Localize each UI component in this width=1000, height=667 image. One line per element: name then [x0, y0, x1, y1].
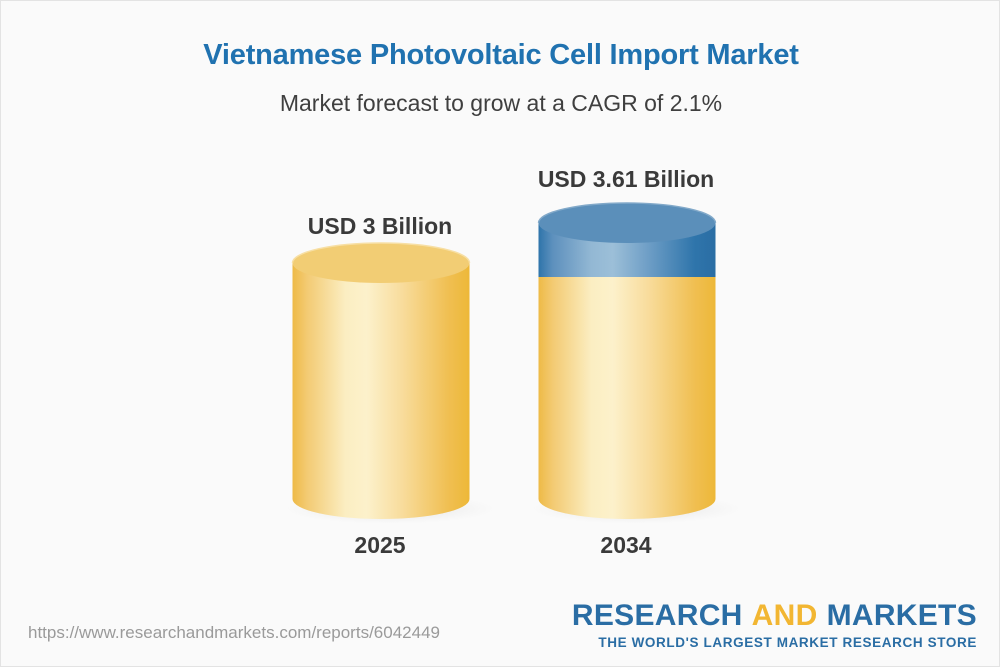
cylinder-base-segment-2034 [539, 277, 716, 519]
bar-category-label-2034: 2034 [496, 532, 756, 559]
source-url[interactable]: https://www.researchandmarkets.com/repor… [28, 623, 440, 643]
brand-tagline: THE WORLD'S LARGEST MARKET RESEARCH STOR… [572, 636, 977, 650]
brand-wordmark: RESEARCHANDMARKETS [572, 601, 977, 631]
brand-word-research: RESEARCH [572, 599, 743, 632]
cylinder-2034 [496, 151, 756, 531]
page-title: Vietnamese Photovoltaic Cell Import Mark… [1, 39, 1000, 72]
brand-word-markets: MARKETS [827, 599, 977, 632]
cylinder-2025 [250, 151, 510, 531]
cylinder-body-2025 [293, 263, 470, 519]
brand-word-and: AND [752, 599, 818, 632]
bar-category-label-2025: 2025 [250, 532, 510, 559]
infographic-canvas: Vietnamese Photovoltaic Cell Import Mark… [0, 0, 1000, 667]
brand-logo[interactable]: RESEARCHANDMARKETS THE WORLD'S LARGEST M… [572, 601, 977, 650]
page-subtitle: Market forecast to grow at a CAGR of 2.1… [1, 90, 1000, 117]
